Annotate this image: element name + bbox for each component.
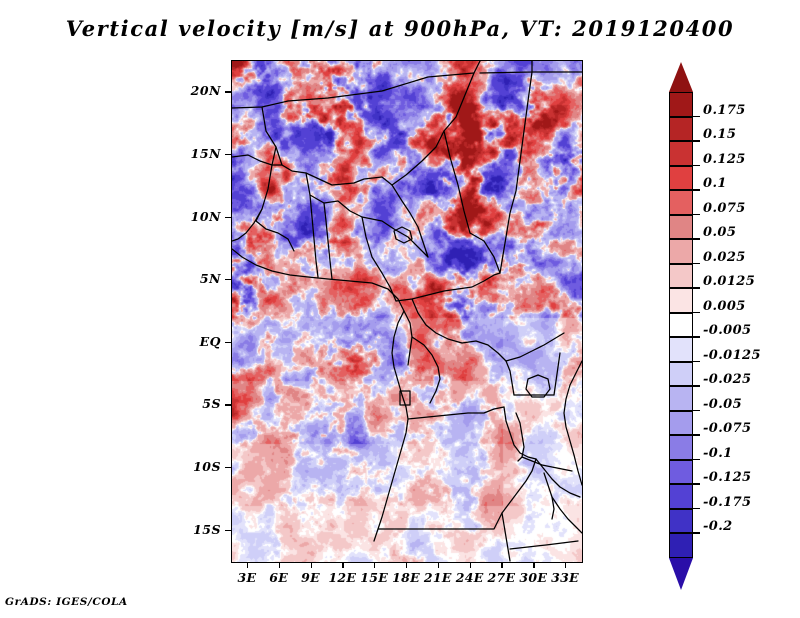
coast-gabon-congo [392, 311, 404, 395]
colorbar-tick [693, 287, 700, 289]
coast-gulf-of-guinea [232, 249, 404, 311]
colorbar-tick-label: -0.075 [703, 421, 752, 436]
colorbar-tick [693, 116, 700, 118]
x-axis-label: 33E [540, 570, 590, 585]
border-niger-chad [392, 185, 428, 257]
colorbar-tick-label: -0.175 [703, 495, 752, 510]
x-axis-tick [247, 562, 248, 568]
y-axis-tick [225, 530, 231, 531]
colorbar-tick [693, 312, 700, 314]
y-axis-label: 5S [159, 396, 221, 411]
border-togo-benin [324, 203, 332, 279]
border-niger-algeria [392, 73, 474, 185]
border-mali-niger [306, 173, 392, 185]
lake-victoria [526, 375, 550, 397]
colorbar-swatch [669, 386, 693, 411]
x-axis-tick [565, 562, 566, 568]
colorbar-swatch [669, 337, 693, 362]
colorbar-swatch [669, 190, 693, 215]
border-algeria-mali [262, 107, 306, 173]
border-algeria-libya [232, 61, 480, 108]
colorbar-tick-label: -0.2 [703, 519, 733, 534]
x-axis-tick [374, 562, 375, 568]
border-chad-sudan [470, 233, 500, 273]
colorbar-tick-label: -0.125 [703, 470, 752, 485]
y-axis-tick [225, 342, 231, 343]
page-title: Vertical velocity [m/s] at 900hPa, VT: 2… [0, 16, 800, 41]
colorbar-tick [693, 238, 700, 240]
colorbar-swatch [669, 141, 693, 166]
colorbar-tick-label: 0.025 [703, 250, 746, 265]
colorbar-tick [693, 532, 700, 534]
x-axis-tick [406, 562, 407, 568]
x-axis-tick [342, 562, 343, 568]
border-nigeria-cameroon [362, 217, 396, 301]
y-axis-tick [225, 467, 231, 468]
colorbar-tick [693, 263, 700, 265]
y-axis-tick [225, 217, 231, 218]
colorbar-swatch [669, 435, 693, 460]
border-ethiopia-sudan [506, 333, 564, 361]
x-axis-tick [533, 562, 534, 568]
coast-somalia-kenya [564, 361, 582, 455]
border-congo-drc [412, 337, 440, 403]
y-axis-tick [225, 91, 231, 92]
border-sudan-north [500, 72, 532, 273]
y-axis-label: 10S [159, 459, 221, 474]
colorbar-tick [693, 434, 700, 436]
x-axis-tick [501, 562, 502, 568]
lake-tanganyika [516, 413, 524, 461]
border-zambia-mozambique [552, 497, 582, 533]
colorbar-swatch [669, 362, 693, 387]
colorbar-swatch [669, 215, 693, 240]
colorbar-tick [693, 165, 700, 167]
border-uganda-drc [506, 361, 514, 395]
colorbar-tick-label: 0.175 [703, 103, 746, 118]
x-axis-tick [438, 562, 439, 568]
colorbar-tick [693, 214, 700, 216]
colorbar-tick-label: -0.005 [703, 323, 752, 338]
x-axis-tick [279, 562, 280, 568]
border-drc-sudan [462, 341, 506, 361]
y-axis-label: 15N [159, 146, 221, 161]
colorbar-swatch [669, 166, 693, 191]
colorbar-tick-label: 0.1 [703, 176, 727, 191]
colorbar-tick-label: -0.1 [703, 446, 733, 461]
colorbar-swatch [669, 460, 693, 485]
colorbar-tick-label: -0.025 [703, 372, 752, 387]
border-angola-namibia [378, 513, 502, 529]
border-namibia-botswana [502, 513, 510, 561]
colorbar-swatch [669, 533, 693, 558]
border-chad-libya [444, 131, 470, 233]
colorbar-swatch [669, 411, 693, 436]
y-axis-tick [225, 404, 231, 405]
border-libya-north [480, 61, 532, 73]
colorbar-swatch [669, 92, 693, 117]
colorbar-tick [693, 140, 700, 142]
colorbar-swatch [669, 313, 693, 338]
colorbar-tick [693, 508, 700, 510]
colorbar-cap-bottom-icon [669, 558, 693, 590]
colorbar-tick-label: 0.125 [703, 152, 746, 167]
y-axis-tick [225, 154, 231, 155]
border-guinea-coast-a [256, 221, 294, 251]
colorbar-tick [693, 385, 700, 387]
border-cameroon-car [396, 289, 458, 301]
colorbar-tick-label: 0.0125 [703, 274, 755, 289]
colorbar-swatch-stack [669, 92, 693, 558]
colorbar-swatch [669, 264, 693, 289]
grads-credit: GrADS: IGES/COLA [5, 596, 128, 608]
x-axis-tick [470, 562, 471, 568]
colorbar-tick-label: 0.05 [703, 225, 736, 240]
border-kenya-uganda [554, 353, 560, 395]
colorbar-tick-label: 0.005 [703, 299, 746, 314]
y-axis-label: 15S [159, 522, 221, 537]
coast-angola-north [374, 395, 408, 541]
colorbar-tick [693, 189, 700, 191]
border-botswana-south [510, 541, 578, 549]
x-axis-tick [311, 562, 312, 568]
border-mali-south [256, 147, 276, 221]
border-angola-drc-north [408, 407, 504, 419]
border-car-congo [412, 299, 462, 343]
border-gabon-congo [404, 311, 412, 365]
colorbar-tick-label: -0.05 [703, 397, 742, 412]
colorbar-tick [693, 361, 700, 363]
border-angola-zambia [502, 459, 536, 513]
border-burkina-niger [306, 173, 362, 217]
y-axis-label: EQ [159, 334, 221, 349]
colorbar-swatch [669, 288, 693, 313]
colorbar-tick [693, 459, 700, 461]
y-axis-label: 5N [159, 271, 221, 286]
colorbar-tick [693, 410, 700, 412]
border-angola-drc-east [504, 407, 536, 459]
map-plot-area [231, 60, 583, 563]
border-tanzania-zambia [522, 457, 572, 471]
colorbar-tick-label: 0.15 [703, 127, 736, 142]
colorbar-swatch [669, 509, 693, 534]
colorbar-swatch [669, 484, 693, 509]
colorbar-swatch [669, 239, 693, 264]
lake-chad [394, 227, 412, 243]
colorbar-tick-label: 0.075 [703, 201, 746, 216]
border-car-sudan [458, 273, 500, 289]
colorbar-tick [693, 336, 700, 338]
colorbar-cap-top-icon [669, 62, 693, 92]
y-axis-label: 10N [159, 209, 221, 224]
y-axis-label: 20N [159, 83, 221, 98]
colorbar-tick [693, 483, 700, 485]
colorbar-swatch [669, 117, 693, 142]
border-guinea-coast-b [232, 209, 262, 241]
coast-east-africa-south [574, 455, 582, 485]
border-ghana-togo [310, 195, 318, 277]
colorbar-tick-label: -0.0125 [703, 348, 761, 363]
country-borders-overlay [232, 61, 582, 562]
y-axis-tick [225, 279, 231, 280]
colorbar-legend: 0.1750.150.1250.10.0750.050.0250.01250.0… [669, 62, 789, 562]
